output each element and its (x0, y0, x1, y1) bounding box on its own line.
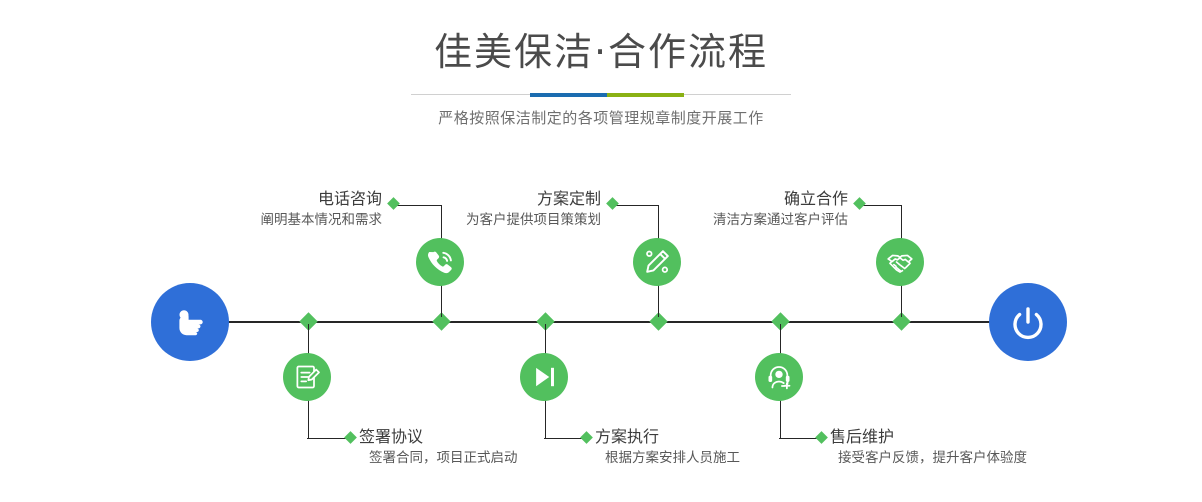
step-label-5: 确立合作 清洁方案通过客户评估 (470, 188, 848, 230)
flow-start-node[interactable] (151, 283, 229, 361)
step-desc-6: 接受客户反馈，提升客户体验度 (830, 448, 1190, 468)
phone-call-icon (425, 247, 455, 277)
label-marker-5 (853, 197, 866, 210)
step-title-6: 售后维护 (830, 426, 1190, 448)
step-label-6: 售后维护 接受客户反馈，提升客户体验度 (830, 426, 1190, 468)
document-edit-icon (293, 363, 321, 391)
step-node-2[interactable] (283, 353, 331, 401)
step-node-4[interactable] (520, 353, 568, 401)
connector-horizontal-5 (860, 205, 901, 207)
process-flow-infographic: 佳美保洁·合作流程 严格按照保洁制定的各项管理规章制度开展工作 (0, 0, 1202, 502)
step-node-5[interactable] (876, 238, 924, 286)
step-node-3[interactable] (633, 238, 681, 286)
step-title-5: 确立合作 (470, 188, 848, 210)
pencil-compass-icon (643, 248, 671, 276)
handshake-icon (886, 248, 914, 276)
step-desc-5: 清洁方案通过客户评估 (470, 210, 848, 230)
step-node-1[interactable] (416, 238, 464, 286)
headset-support-add-icon (765, 363, 793, 391)
step-node-6[interactable] (755, 353, 803, 401)
pointing-hand-icon (168, 300, 212, 344)
play-next-icon (530, 363, 558, 391)
timeline: 电话咨询 阐明基本情况和需求 签署协议 签署合同，项目正式启动 (0, 0, 1202, 502)
label-marker-2 (344, 431, 357, 444)
flow-end-node[interactable] (989, 283, 1067, 361)
power-icon (1006, 300, 1050, 344)
